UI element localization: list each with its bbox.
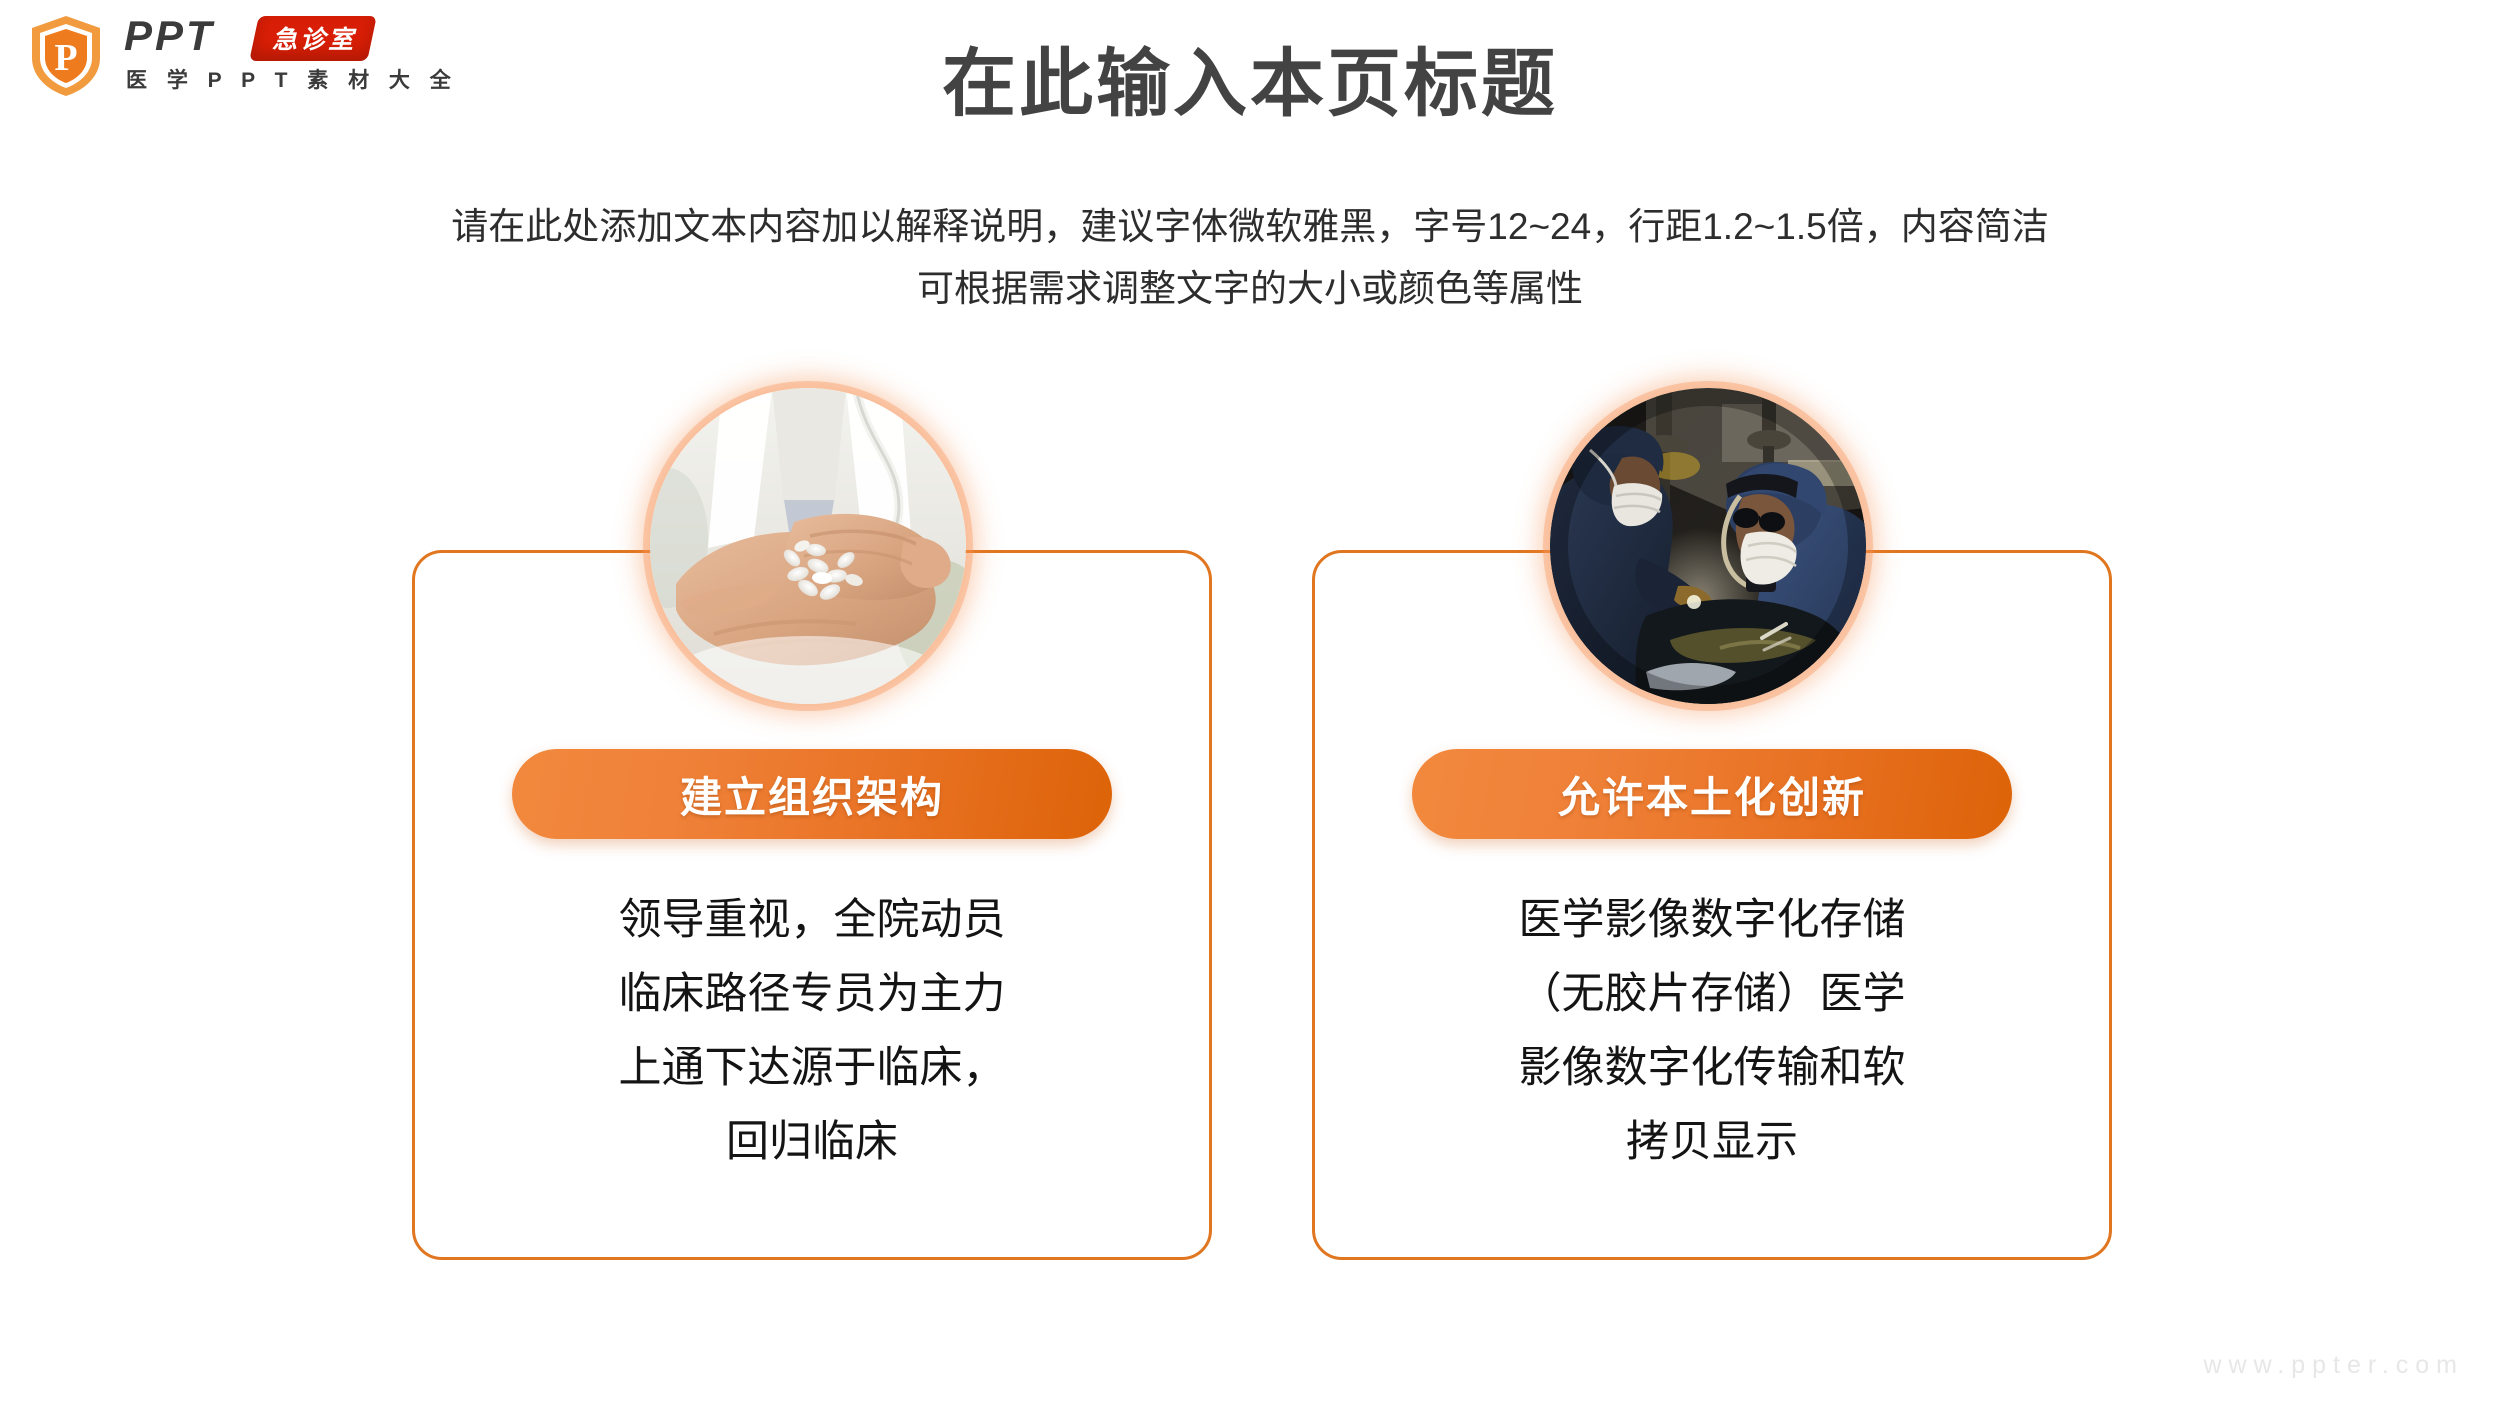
slide-canvas: P PPT 急诊室 医 学 P P T 素 材 大 全 在此输入本页标题 请在此…	[0, 0, 2500, 1406]
card-1-body-line-1: 领导重视，全院动员	[415, 883, 1209, 957]
card-2-body-line-3: 影像数字化传输和软	[1315, 1031, 2109, 1105]
card-2-body-text: 医学影像数字化存储 （无胶片存储）医学 影像数字化传输和软 拷贝显示	[1315, 883, 2109, 1179]
card-2-body-line-4: 拷贝显示	[1315, 1105, 2109, 1179]
card-2-body-line-1: 医学影像数字化存储	[1315, 883, 2109, 957]
site-watermark: www.ppter.com	[2203, 1351, 2464, 1380]
page-subtitle-line-1: 请在此处添加文本内容加以解释说明，建议字体微软雅黑，字号12~24，行距1.2~…	[250, 196, 2250, 258]
card-1-body-line-3: 上通下达源于临床，	[415, 1031, 1209, 1105]
page-subtitle-line-2: 可根据需求调整文字的大小或颜色等属性	[250, 258, 2250, 320]
card-1-pill-badge[interactable]: 建立组织架构	[512, 749, 1112, 839]
card-1-body-text: 领导重视，全院动员 临床路径专员为主力 上通下达源于临床， 回归临床	[415, 883, 1209, 1179]
surgery-operation-photo	[1550, 388, 1866, 704]
card-1-body-line-4: 回归临床	[415, 1105, 1209, 1179]
card-1-body-line-2: 临床路径专员为主力	[415, 957, 1209, 1031]
doctor-holding-pills-photo	[650, 388, 966, 704]
page-subtitle: 请在此处添加文本内容加以解释说明，建议字体微软雅黑，字号12~24，行距1.2~…	[250, 196, 2250, 320]
card-2-pill-label: 允许本土化创新	[1558, 764, 1866, 825]
card-1-pill-label: 建立组织架构	[680, 764, 944, 825]
card-2-pill-badge[interactable]: 允许本土化创新	[1412, 749, 2012, 839]
page-title: 在此输入本页标题	[0, 42, 2500, 126]
card-2-body-line-2: （无胶片存储）医学	[1315, 957, 2109, 1031]
